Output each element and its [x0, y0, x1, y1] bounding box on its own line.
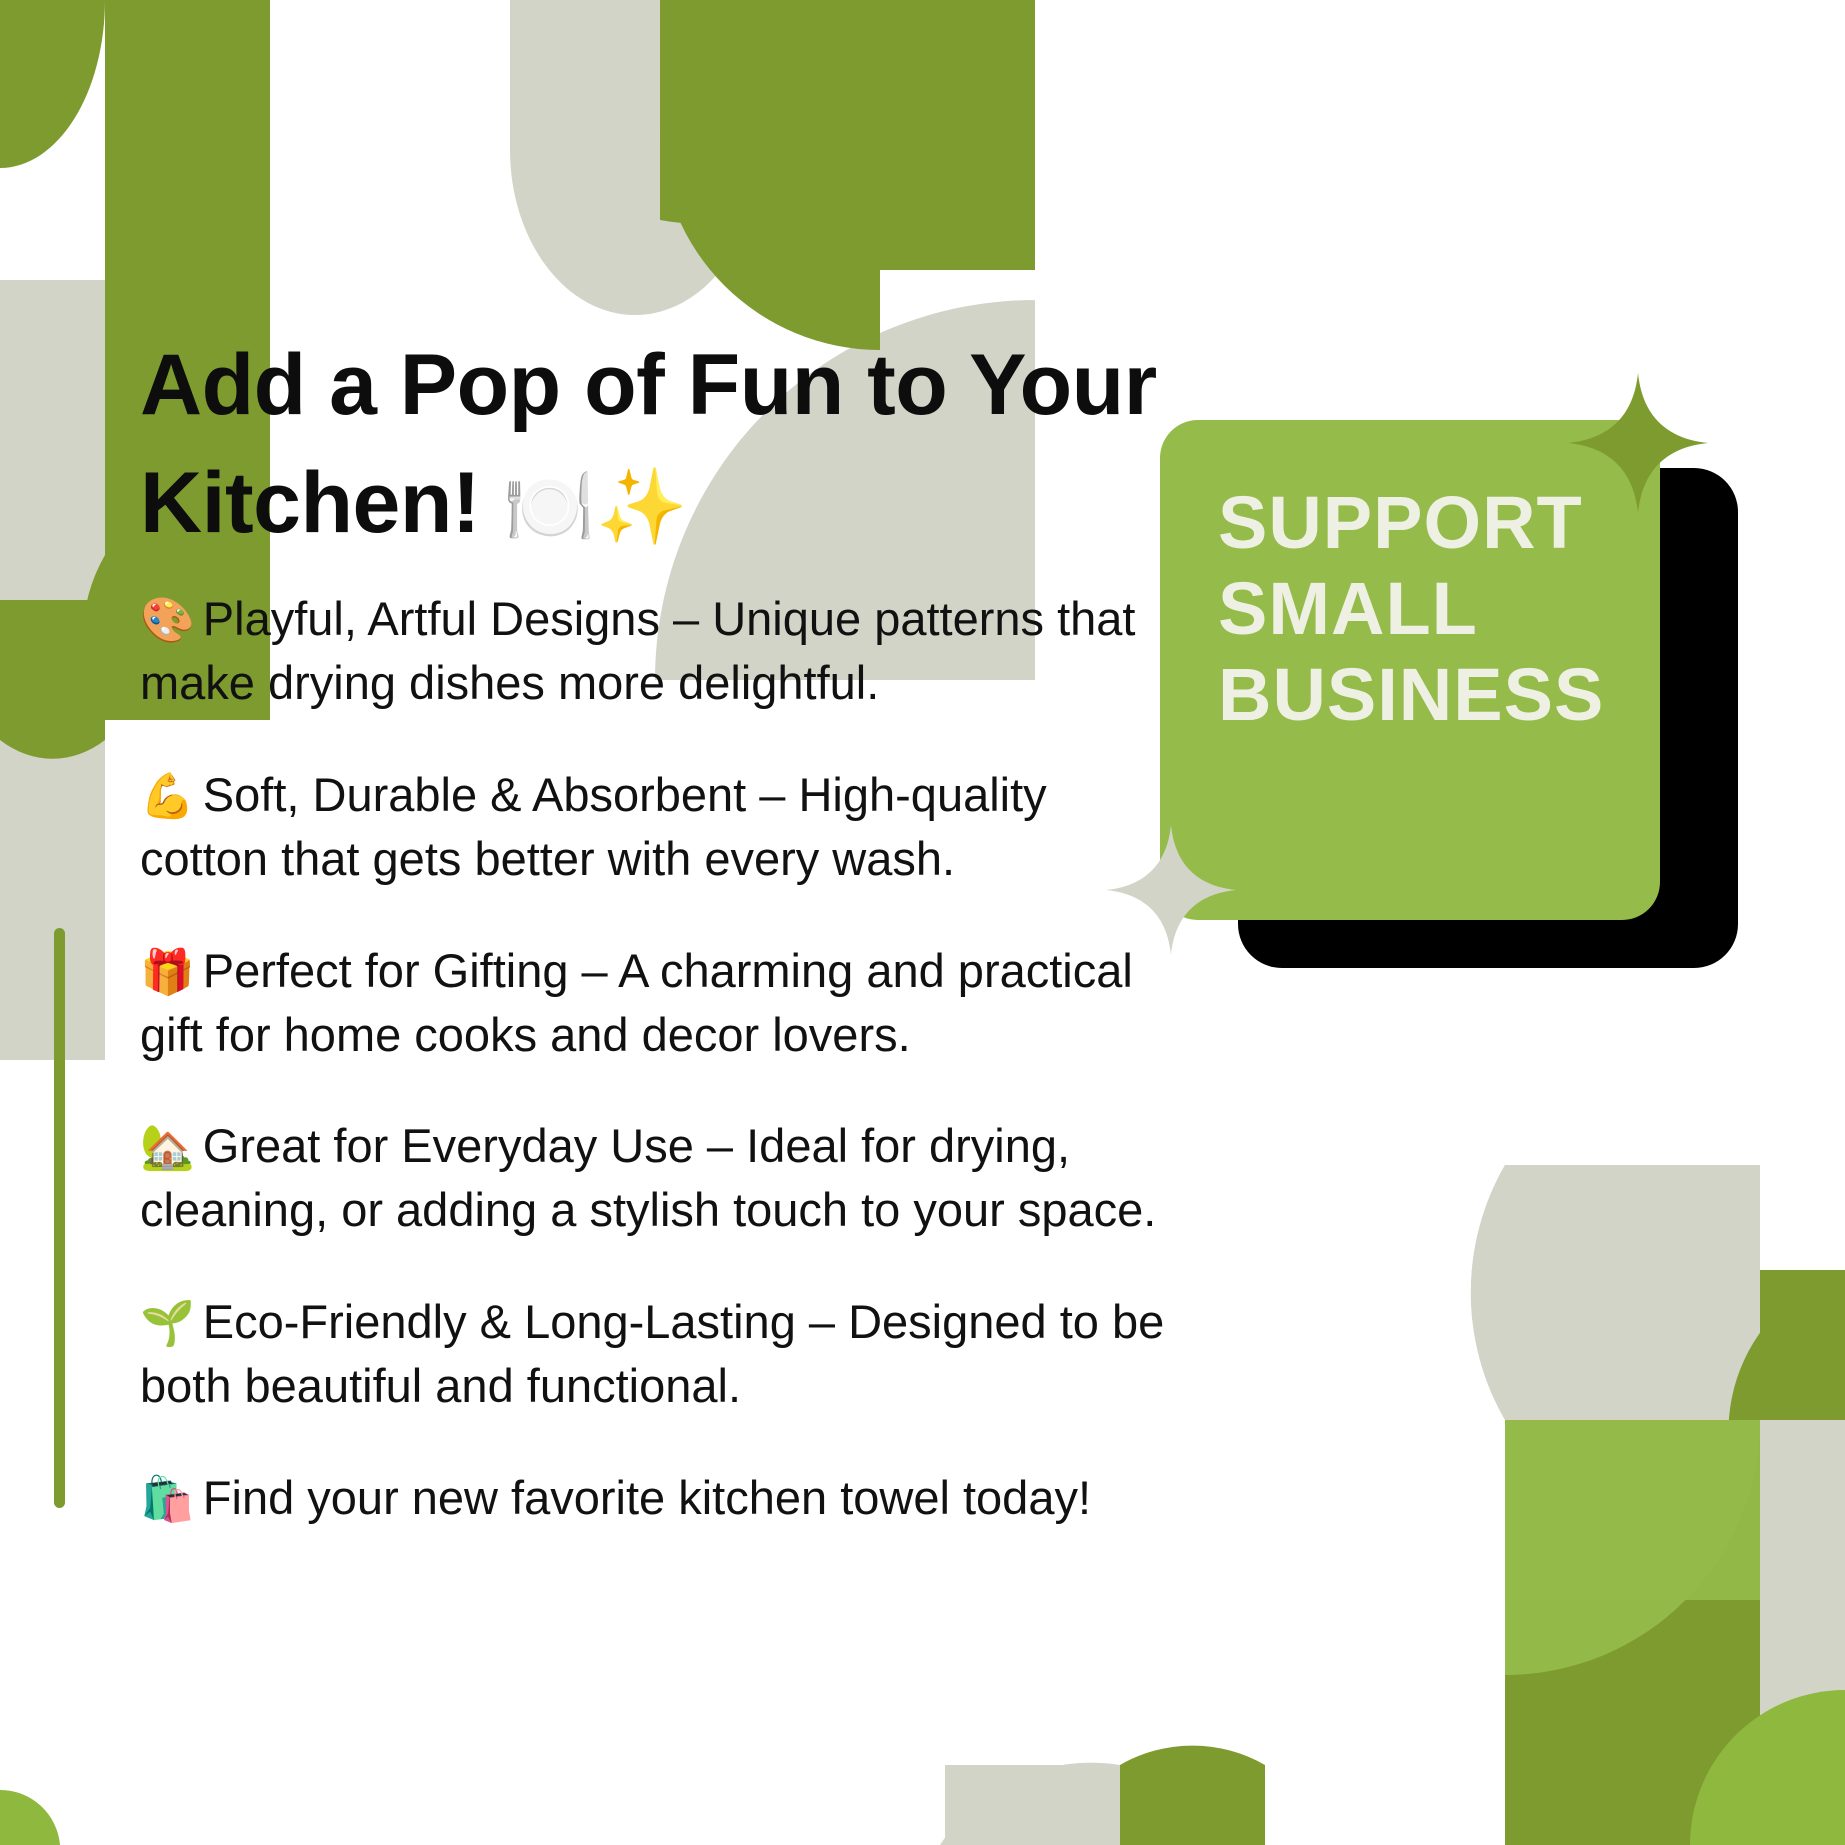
list-item: 🛍️Find your new favorite kitchen towel t…	[140, 1466, 1180, 1530]
poster-canvas: Add a Pop of Fun to Your Kitchen! 🍽️✨ 🎨P…	[0, 0, 1845, 1845]
house-with-garden-emoji: 🏡	[140, 1123, 195, 1172]
deco-shape-grey-bm-rect	[945, 1765, 1120, 1845]
list-item-text: Eco-Friendly & Long-Lasting – Designed t…	[140, 1295, 1164, 1412]
deco-shape-green-rect-tm	[880, 0, 1035, 270]
list-item-text: Find your new favorite kitchen towel tod…	[203, 1471, 1091, 1524]
gift-emoji: 🎁	[140, 948, 195, 997]
vertical-accent-rule	[54, 928, 65, 1508]
deco-shape-grey-br-b	[1471, 1165, 1505, 1420]
support-small-business-badge: SUPPORT SMALL BUSINESS	[1160, 420, 1730, 990]
headline-line-1: Add a Pop of Fun to Your	[140, 337, 1157, 433]
feature-bullet-list: 🎨Playful, Artful Designs – Unique patter…	[140, 540, 1180, 1530]
badge-line-3: BUSINESS	[1218, 652, 1660, 738]
list-item: 🎁Perfect for Gifting – A charming and pr…	[140, 939, 1180, 1067]
list-item-text: Great for Everyday Use – Ideal for dryin…	[140, 1119, 1156, 1236]
list-item: 🎨Playful, Artful Designs – Unique patter…	[140, 587, 1180, 715]
deco-shape-green-leaf-tm	[660, 130, 880, 350]
deco-shape-grey-left-b	[0, 740, 105, 1060]
sparkle-icon-bottom-left	[1106, 820, 1236, 960]
deco-shape-grey-left-a	[0, 280, 105, 600]
list-item: 💪Soft, Durable & Absorbent – High-qualit…	[140, 763, 1180, 891]
seedling-emoji: 🌱	[140, 1299, 195, 1348]
list-item-text: Soft, Durable & Absorbent – High-quality…	[140, 768, 1047, 885]
deco-shape-green-bl-dot	[0, 1790, 60, 1845]
deco-shape-grey-br-a	[1471, 1165, 1760, 1420]
deco-shape-tl-sliver	[0, 0, 105, 168]
badge-line-2: SMALL	[1218, 566, 1660, 652]
deco-shape-green-bm-rect	[1120, 1765, 1265, 1845]
list-item-text: Perfect for Gifting – A charming and pra…	[140, 944, 1133, 1061]
list-item: 🏡Great for Everyday Use – Ideal for dryi…	[140, 1114, 1180, 1242]
sparkle-icon-top-right	[1568, 368, 1708, 518]
list-item: 🌱Eco-Friendly & Long-Lasting – Designed …	[140, 1290, 1180, 1418]
shopping-bags-emoji: 🛍️	[140, 1475, 195, 1524]
deco-shape-green-bm-arc	[1120, 1746, 1265, 1765]
plate-cutlery-sparkles-emoji: 🍽️✨	[503, 465, 687, 548]
palette-emoji: 🎨	[140, 596, 195, 645]
flexed-biceps-emoji: 💪	[140, 772, 195, 821]
headline-line-2: Kitchen!	[140, 455, 480, 551]
list-item-text: Playful, Artful Designs – Unique pattern…	[140, 592, 1135, 709]
deco-shape-lightgreen-rect	[1505, 1420, 1760, 1600]
